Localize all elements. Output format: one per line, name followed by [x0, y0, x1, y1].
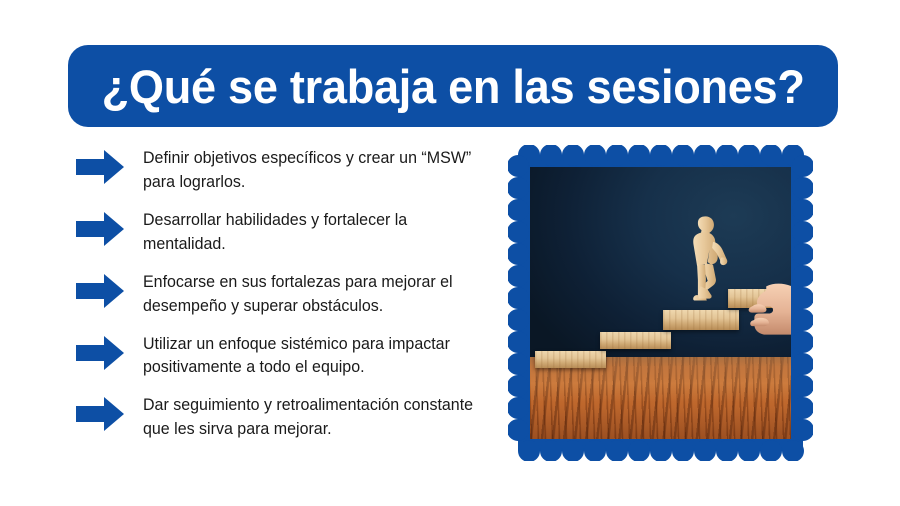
- arrow-right-icon: [74, 148, 126, 186]
- arrow-right-icon: [74, 334, 126, 372]
- list-item-label: Enfocarse en sus fortalezas para mejorar…: [143, 270, 474, 319]
- arrow-right-icon: [74, 210, 126, 248]
- wooden-step-3: [663, 310, 739, 330]
- arrow-right-icon: [74, 395, 126, 433]
- arrow-right-icon: [74, 272, 126, 310]
- photo-frame: [508, 145, 813, 461]
- wooden-figure-icon: [679, 215, 736, 313]
- list-item-label: Dar seguimiento y retroalimentación cons…: [143, 393, 474, 442]
- bullet-list: Definir objetivos específicos y crear un…: [74, 146, 484, 455]
- page-title: ¿Qué se trabaja en las sesiones?: [102, 63, 805, 110]
- list-item: Desarrollar habilidades y fortalecer la …: [74, 208, 484, 257]
- slide-canvas: ¿Qué se trabaja en las sesiones? Definir…: [0, 0, 900, 506]
- list-item: Definir objetivos específicos y crear un…: [74, 146, 484, 195]
- title-banner: ¿Qué se trabaja en las sesiones?: [68, 45, 838, 127]
- list-item: Dar seguimiento y retroalimentación cons…: [74, 393, 484, 442]
- list-item: Enfocarse en sus fortalezas para mejorar…: [74, 270, 484, 319]
- list-item-label: Desarrollar habilidades y fortalecer la …: [143, 208, 474, 257]
- wooden-step-1: [535, 351, 605, 369]
- photo-wooden-floor: [530, 357, 791, 439]
- list-item-label: Definir objetivos específicos y crear un…: [143, 146, 474, 195]
- list-item-label: Utilizar un enfoque sistémico para impac…: [143, 332, 474, 381]
- human-hand-icon: [734, 281, 791, 341]
- wooden-step-2: [600, 332, 670, 350]
- list-item: Utilizar un enfoque sistémico para impac…: [74, 332, 484, 381]
- photo-image: [530, 167, 791, 439]
